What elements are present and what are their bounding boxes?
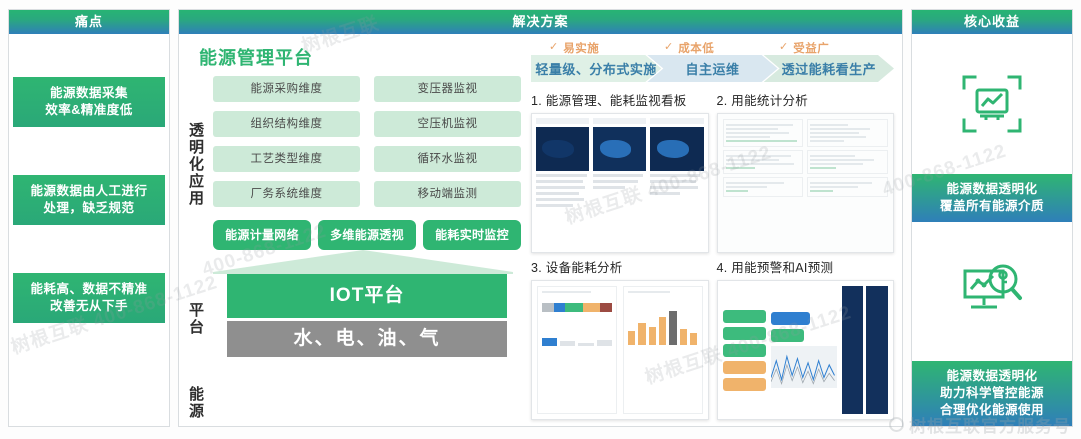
report-card: [807, 150, 888, 174]
waveform-icon: [771, 346, 837, 388]
platform-title: 能源管理平台: [199, 44, 521, 70]
dimension-column-right: 变压器监视 空压机监视 循环水监视 移动端监测: [374, 76, 521, 207]
solution-column: 解决方案 能源管理平台 透明化应用 平台 能源 能源采购维度 组织结构维度 工艺…: [178, 9, 903, 427]
panel-device-energy-analysis: 3. 设备能耗分析: [531, 257, 709, 420]
check-icon: ✓: [779, 42, 788, 53]
report-row: [723, 177, 889, 200]
mini-map-visual: [536, 127, 589, 171]
flow-tick-label: 成本低: [678, 40, 714, 56]
panel-title: 1. 能源管理、能耗监视看板: [531, 90, 709, 109]
chart-card: [623, 286, 703, 414]
text-line: [650, 180, 696, 183]
flow-arrow-row: 轻量级、分布式实施 自主运维 透过能耗看生产: [531, 55, 894, 82]
dimension-grid: 能源采购维度 组织结构维度 工艺类型维度 厂务系统维度 变压器监视 空压机监视 …: [213, 76, 521, 207]
text-line: [593, 174, 642, 177]
panel-title: 4. 用能预警和AI预测: [717, 257, 895, 276]
benefit-icon-container: [912, 34, 1072, 174]
report-row: [723, 150, 889, 177]
text-line: [650, 174, 700, 177]
dimension-column-left: 能源采购维度 组织结构维度 工艺类型维度 厂务系统维度: [213, 76, 360, 207]
prediction-chart: [771, 346, 837, 388]
layer-label-application: 透明化应用: [185, 122, 206, 207]
flow-nodes-middle: [771, 286, 837, 414]
dimension-chip[interactable]: 组织结构维度: [213, 111, 360, 137]
capability-row: 能源计量网络 多维能源透视 能耗实时监控: [213, 220, 521, 250]
check-icon: ✓: [664, 42, 673, 53]
roof-shape-icon: [213, 250, 513, 274]
flow-tick-label: 易实施: [563, 40, 599, 56]
pain-point-card: 能源数据采集 效率&精准度低: [13, 77, 165, 127]
flow-node: [771, 329, 804, 342]
panel-title: 3. 设备能耗分析: [531, 257, 709, 276]
mini-dashboard: [650, 118, 703, 248]
text-line: [650, 192, 679, 195]
pain-point-card: 能耗高、数据不精准 改善无从下手: [13, 273, 165, 323]
showcase-area: ✓ 易实施 ✓ 成本低 ✓ 受益广 轻量级、分布式实施: [527, 34, 902, 426]
mini-dashboard: [536, 118, 589, 248]
chart-card: [537, 286, 617, 414]
flow-node: [723, 310, 766, 323]
layer-label-energy: 能源: [185, 386, 206, 420]
mini-caption-bar: [593, 118, 646, 124]
flow-tick: ✓ 成本低: [664, 40, 779, 55]
flow-node: [771, 312, 811, 325]
panel-usage-statistics: 2. 用能统计分析: [717, 90, 895, 253]
dimension-chip[interactable]: 移动端监测: [374, 181, 521, 207]
text-line: [593, 180, 638, 183]
mini-map-visual: [593, 127, 646, 171]
pain-points-list: 能源数据采集 效率&精准度低 能源数据由人工进行 处理，缺乏规范 能耗高、数据不…: [9, 34, 169, 426]
flow-step[interactable]: 轻量级、分布式实施: [531, 55, 661, 82]
panel-screenshot[interactable]: [717, 113, 895, 253]
flow-step[interactable]: 自主运维: [647, 55, 777, 82]
dark-panel: [842, 286, 864, 414]
flow-nodes-left: [723, 286, 766, 414]
energy-sources-bar: 水、电、油、气: [227, 321, 507, 357]
dimension-chip[interactable]: 工艺类型维度: [213, 146, 360, 172]
text-line: [650, 186, 698, 189]
flow-step[interactable]: 透过能耗看生产: [764, 55, 894, 82]
capability-chip[interactable]: 多维能源透视: [318, 220, 416, 250]
flow-node: [723, 344, 766, 357]
dimension-chip[interactable]: 变压器监视: [374, 76, 521, 102]
report-card: [807, 119, 888, 147]
flow-node: [723, 361, 766, 374]
pain-points-header: 痛点: [9, 10, 169, 34]
solution-header: 解决方案: [179, 10, 902, 34]
solution-body: 能源管理平台 透明化应用 平台 能源 能源采购维度 组织结构维度 工艺类型维度 …: [179, 34, 902, 426]
flow-tick: ✓ 易实施: [549, 40, 664, 55]
check-icon: ✓: [549, 42, 558, 53]
pain-points-column: 痛点 能源数据采集 效率&精准度低 能源数据由人工进行 处理，缺乏规范 能耗高、…: [8, 9, 170, 427]
scan-monitor-chart-icon: [960, 72, 1024, 136]
benefit-card: 能源数据透明化 覆盖所有能源介质: [912, 174, 1072, 222]
text-line: [536, 192, 579, 195]
dark-dashboards: [842, 286, 888, 414]
mini-map-visual: [650, 127, 703, 171]
bar-chart: [628, 305, 698, 345]
core-benefits-list: 能源数据透明化 覆盖所有能源介质 能源数据透明化 助力科学管控能源 合理优化能源…: [912, 34, 1072, 426]
pain-point-card: 能源数据由人工进行 处理，缺乏规范: [13, 175, 165, 225]
panel-alert-ai-prediction: 4. 用能预警和AI预测: [717, 257, 895, 420]
flow-tick-label: 受益广: [793, 40, 829, 56]
text-line: [536, 204, 573, 207]
text-line: [536, 198, 584, 201]
benefit-icon-container: [912, 222, 1072, 362]
monitor-search-key-icon: [959, 259, 1025, 323]
report-card: [807, 177, 888, 197]
text-line: [536, 186, 585, 189]
panel-energy-dashboard: 1. 能源管理、能耗监视看板: [531, 90, 709, 253]
dimension-chip[interactable]: 循环水监视: [374, 146, 521, 172]
text-line: [536, 180, 583, 183]
report-card: [723, 119, 804, 147]
capability-chip[interactable]: 能源计量网络: [213, 220, 311, 250]
panel-screenshot[interactable]: [531, 113, 709, 253]
infographic-root: 痛点 能源数据采集 效率&精准度低 能源数据由人工进行 处理，缺乏规范 能耗高、…: [0, 0, 1081, 439]
capability-chip[interactable]: 能耗实时监控: [423, 220, 521, 250]
panel-title: 2. 用能统计分析: [717, 90, 895, 109]
iot-platform-bar: IOT平台: [227, 274, 507, 318]
core-benefits-column: 核心收益 能源数据透明化 覆盖所有能源介质: [911, 9, 1073, 427]
report-card: [723, 177, 804, 197]
text-line: [593, 186, 625, 189]
bar-chart: [542, 318, 612, 346]
panel-screenshot[interactable]: [531, 280, 709, 420]
flow-node: [723, 327, 766, 340]
mini-caption-bar: [536, 118, 589, 124]
flow-tick-row: ✓ 易实施 ✓ 成本低 ✓ 受益广: [531, 40, 894, 55]
layer-label-platform: 平台: [185, 302, 206, 336]
dark-panel: [866, 286, 888, 414]
stacked-bar: [542, 303, 612, 312]
core-benefits-header: 核心收益: [912, 10, 1072, 34]
mini-caption-bar: [650, 118, 703, 124]
architecture-diagram: 能源管理平台 透明化应用 平台 能源 能源采购维度 组织结构维度 工艺类型维度 …: [179, 34, 527, 426]
flow-node: [723, 378, 766, 391]
flow-tick: ✓ 受益广: [779, 40, 894, 55]
report-card: [723, 150, 804, 174]
benefit-card: 能源数据透明化 助力科学管控能源 合理优化能源使用: [912, 361, 1072, 426]
text-line: [536, 174, 587, 177]
dimension-chip[interactable]: 厂务系统维度: [213, 181, 360, 207]
dimension-chip[interactable]: 空压机监视: [374, 111, 521, 137]
panel-screenshot[interactable]: [717, 280, 895, 420]
mini-dashboard: [593, 118, 646, 248]
value-flow: ✓ 易实施 ✓ 成本低 ✓ 受益广 轻量级、分布式实施: [531, 40, 894, 84]
report-row: [723, 119, 889, 150]
dimension-chip[interactable]: 能源采购维度: [213, 76, 360, 102]
screenshot-panels: 1. 能源管理、能耗监视看板: [531, 90, 894, 420]
